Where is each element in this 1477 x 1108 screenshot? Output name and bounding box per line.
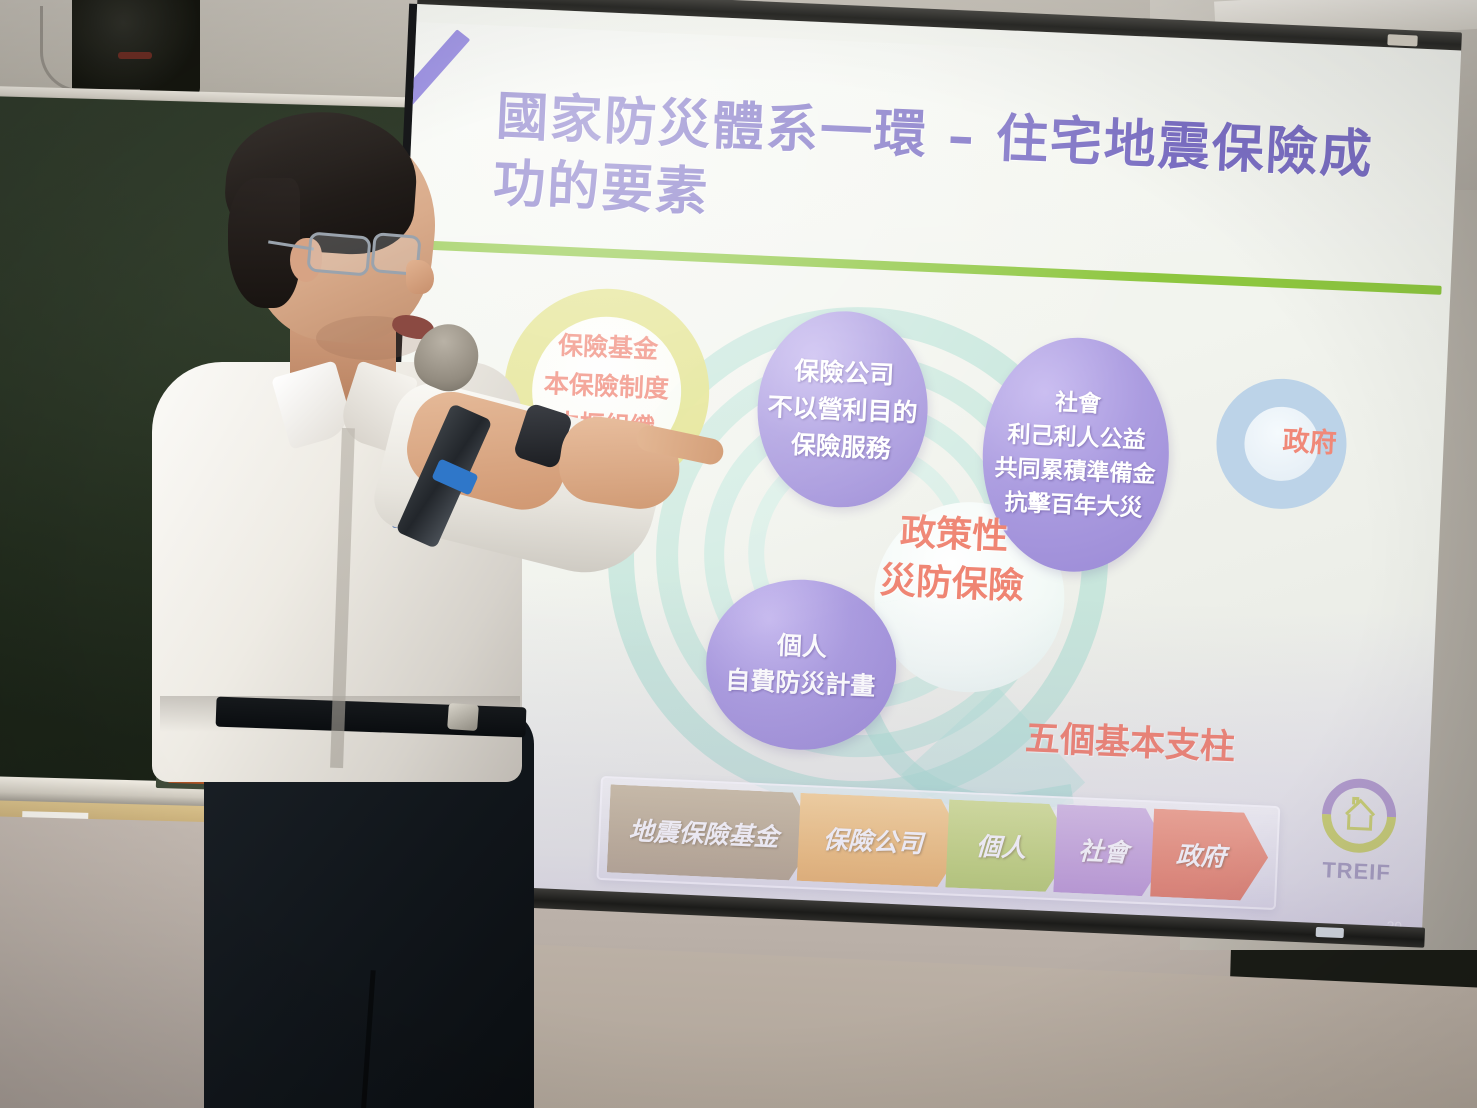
presenter	[140, 110, 780, 1108]
screen-brand-label-bottom	[1316, 927, 1344, 938]
presenter-nose	[406, 260, 434, 294]
treif-logo: TREIF	[1305, 776, 1412, 892]
bubble-government-label: 政府	[1216, 416, 1404, 463]
lecture-scene: 粉筆盒 國家防災體系一環 – 住宅地震保險成功的要素	[0, 0, 1477, 1108]
house-icon	[1341, 794, 1379, 836]
insurer-line-2: 不以營利目的	[767, 387, 919, 431]
speaker-cable	[40, 6, 140, 92]
logo-circle	[1320, 777, 1397, 854]
glasses-lens-left	[306, 231, 371, 276]
center-label: 政策性 災防保險	[846, 507, 1060, 613]
logo-text: TREIF	[1305, 856, 1408, 887]
chevron-insurance-company: 保險公司	[797, 793, 967, 888]
screen-brand-label-top	[1387, 34, 1417, 46]
house-icon-svg	[1341, 794, 1379, 836]
chevron-government: 政府	[1150, 809, 1270, 902]
center-line-2: 災防保險	[846, 555, 1058, 613]
insurer-line-3: 保險服務	[765, 424, 917, 468]
belt-buckle	[447, 703, 479, 731]
speaker-indicator	[118, 52, 152, 59]
